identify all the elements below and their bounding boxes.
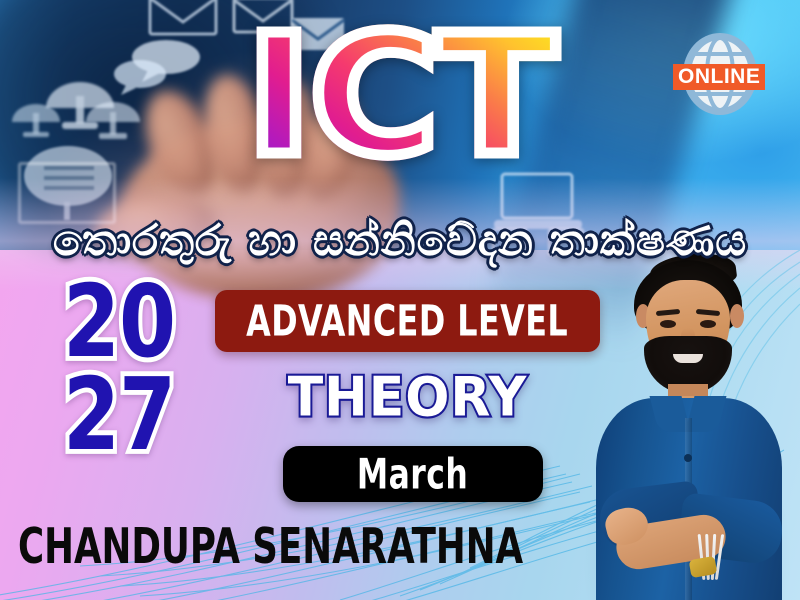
year-bottom: 27 (44, 373, 194, 459)
ict-class-poster: ONLINE ICT තොරතුරු හා සන්නිවේදන තාක්ෂණය … (0, 0, 800, 600)
presenter-shirt-button (684, 454, 692, 462)
year-top: 20 (44, 280, 194, 366)
presenter-ear (730, 304, 744, 328)
subject-title-sinhala: තොරතුරු හා සන්නිවේදන තාක්ෂණය (0, 216, 800, 266)
level-badge: ADVANCED LEVEL (215, 290, 600, 352)
level-label: ADVANCED LEVEL (246, 296, 568, 345)
subject-title: ICT (246, 14, 554, 180)
year-block: 20 27 (44, 288, 194, 451)
teacher-name: CHANDUPA SENARATHNA (18, 518, 523, 575)
presenter-eye (700, 320, 716, 328)
month-label: March (357, 450, 468, 498)
class-type: THEORY (215, 368, 600, 428)
presenter-eye (660, 320, 676, 328)
subject-title-wrap: ICT (0, 14, 800, 180)
class-type-label: THEORY (288, 367, 528, 429)
presenter-photo (572, 258, 800, 600)
presenter-mouth (673, 354, 703, 363)
month-badge: March (283, 446, 543, 502)
